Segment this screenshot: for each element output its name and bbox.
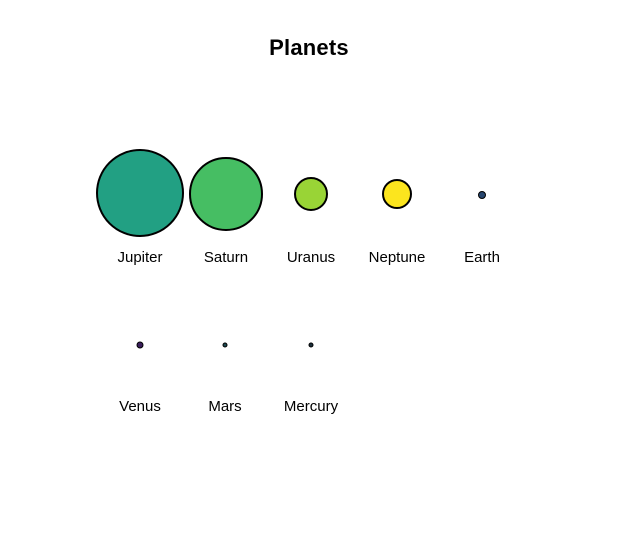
bubble-circle[interactable] [309, 343, 314, 348]
bubble-circle[interactable] [478, 191, 486, 199]
chart-title: Planets [0, 35, 618, 61]
bubble-circle[interactable] [382, 179, 412, 209]
bubble-chart: Planets JupiterSaturnUranusNeptuneEarthV… [0, 0, 618, 543]
bubble-label: Mercury [251, 399, 371, 414]
bubble-circle[interactable] [96, 149, 184, 237]
bubble-circle[interactable] [294, 177, 328, 211]
bubble-circle[interactable] [189, 157, 263, 231]
bubble-circle[interactable] [137, 342, 144, 349]
bubble-label: Earth [422, 250, 542, 265]
bubble-circle[interactable] [223, 343, 228, 348]
